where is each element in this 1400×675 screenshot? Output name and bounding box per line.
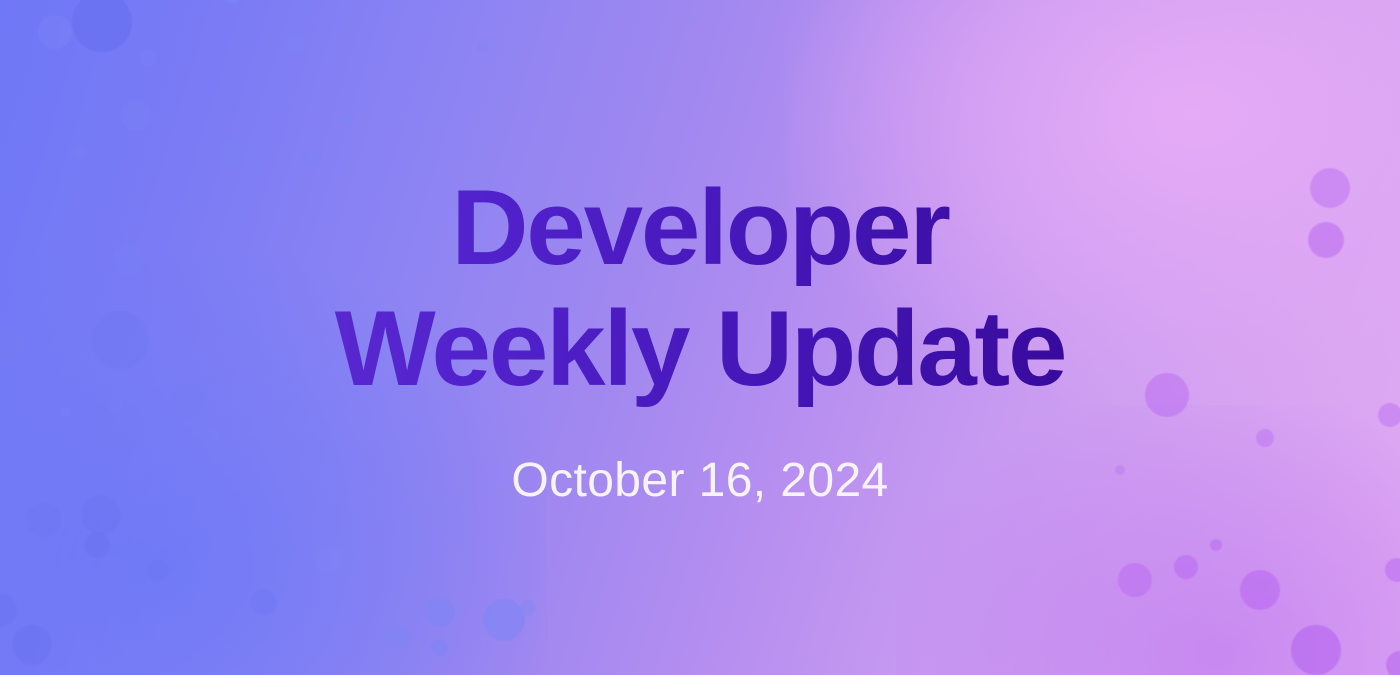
page-title-line-1: Developer	[335, 167, 1066, 288]
issue-date: October 16, 2024	[511, 453, 888, 508]
banner-content: Developer Weekly Update October 16, 2024	[0, 0, 1400, 675]
page-title: Developer Weekly Update	[325, 167, 1076, 409]
newsletter-hero-banner: Developer Weekly Update October 16, 2024	[0, 0, 1400, 675]
page-title-line-2: Weekly Update	[335, 288, 1066, 409]
